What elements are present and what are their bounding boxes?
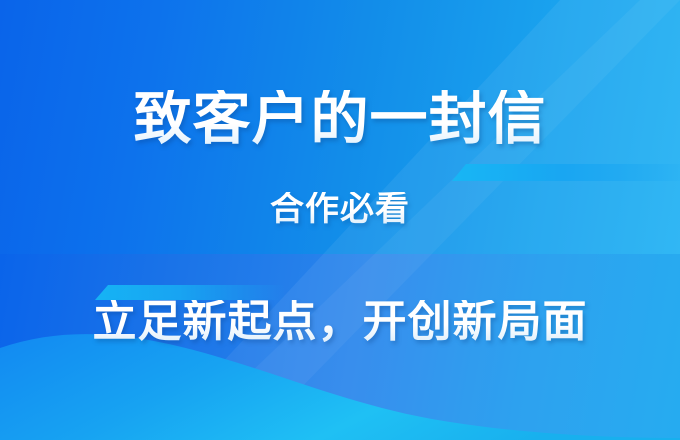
banner-title: 致客户的一封信 <box>0 90 680 148</box>
banner-subtitle: 合作必看 <box>0 192 680 226</box>
banner-slogan: 立足新起点，开创新局面 <box>0 300 680 344</box>
promo-banner: 致客户的一封信 合作必看 立足新起点，开创新局面 <box>0 0 680 440</box>
banner-text-layer: 致客户的一封信 合作必看 立足新起点，开创新局面 <box>0 0 680 440</box>
